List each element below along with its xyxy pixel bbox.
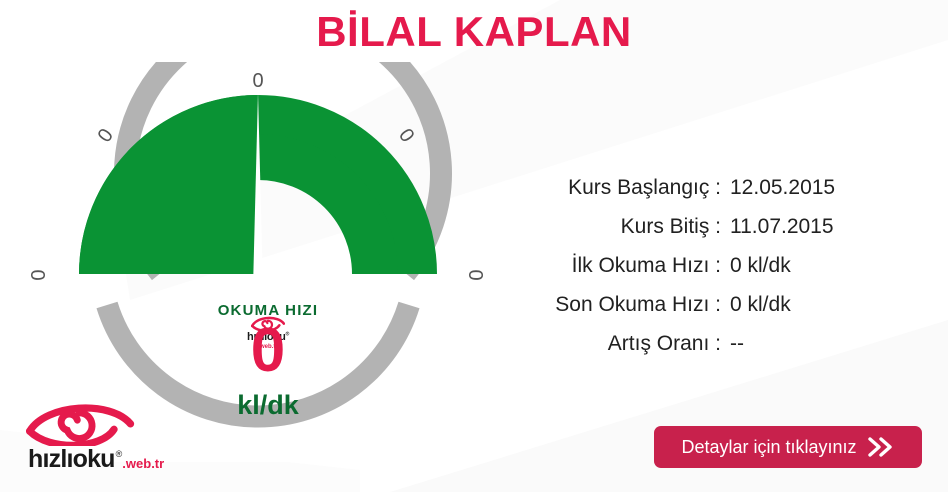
info-label-ilk-okuma-hizi: İlk Okuma Hızı : <box>505 254 730 278</box>
double-chevron-right-icon <box>867 436 895 458</box>
info-value-ilk-okuma-hizi: 0 kl/dk <box>730 254 791 278</box>
gauge-tick-label-left: 0 <box>28 269 50 280</box>
eye-spiral-icon <box>26 398 136 446</box>
gauge-fill-sector <box>79 95 258 274</box>
details-button-label: Detaylar için tıklayınız <box>681 437 856 458</box>
course-info-panel: Kurs Başlangıç : 12.05.2015 Kurs Bitiş :… <box>505 176 885 371</box>
info-label-kurs-bitis: Kurs Bitiş : <box>505 215 730 239</box>
gauge-tick-label-upper-right: 0 <box>394 125 418 147</box>
info-value-artis-orani: -- <box>730 332 744 356</box>
info-value-son-okuma-hizi: 0 kl/dk <box>730 293 791 317</box>
info-label-artis-orani: Artış Oranı : <box>505 332 730 356</box>
info-value-kurs-bitis: 11.07.2015 <box>730 215 834 239</box>
info-row-son-okuma-hizi: Son Okuma Hızı : 0 kl/dk <box>505 293 885 332</box>
brand-word: hızlıoku <box>28 447 115 472</box>
report-card: BİLAL KAPLAN 0 0 <box>0 0 948 492</box>
gauge-value: 0 <box>118 320 418 382</box>
details-button[interactable]: Detaylar için tıklayınız <box>654 426 922 468</box>
info-label-son-okuma-hizi: Son Okuma Hızı : <box>505 293 730 317</box>
gauge-tick-label-upper-left: 0 <box>94 125 118 147</box>
info-label-kurs-baslangic: Kurs Başlangıç : <box>505 176 730 200</box>
info-row-ilk-okuma-hizi: İlk Okuma Hızı : 0 kl/dk <box>505 254 885 293</box>
gauge-tick-label-right: 0 <box>464 269 486 280</box>
gauge-tick-label-top: 0 <box>252 70 263 92</box>
info-row-kurs-baslangic: Kurs Başlangıç : 12.05.2015 <box>505 176 885 215</box>
info-value-kurs-baslangic: 12.05.2015 <box>730 176 835 200</box>
brand-registered: ® <box>116 449 123 459</box>
info-row-artis-orani: Artış Oranı : -- <box>505 332 885 371</box>
page-title: BİLAL KAPLAN <box>0 8 948 56</box>
brand-logo: hızlıoku ® .web.tr <box>26 398 206 472</box>
brand-wordmark: hızlıoku ® .web.tr <box>28 447 206 472</box>
brand-tld: .web.tr <box>122 457 164 470</box>
info-row-kurs-bitis: Kurs Bitiş : 11.07.2015 <box>505 215 885 254</box>
